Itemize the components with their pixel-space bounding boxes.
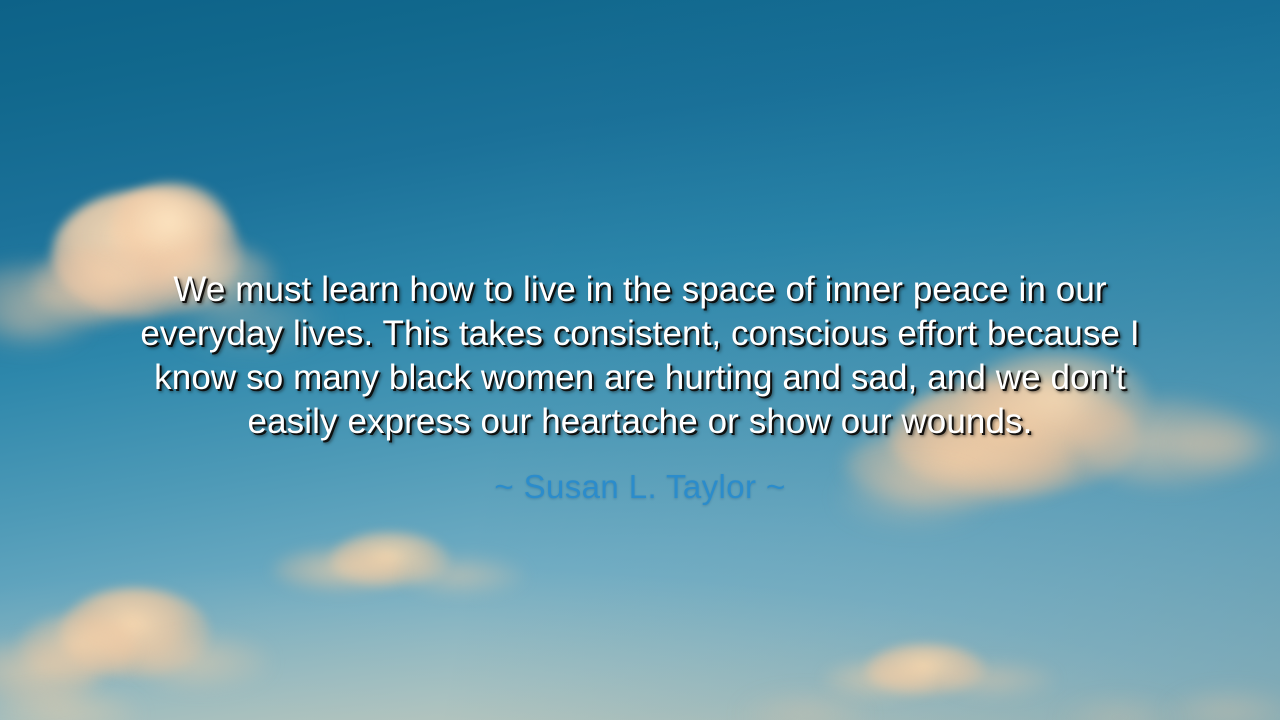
quote-text: We must learn how to live in the space o… [110,268,1170,444]
quote-image-canvas: We must learn how to live in the space o… [0,0,1280,720]
quote-author: ~ Susan L. Taylor ~ [494,466,785,508]
text-overlay: We must learn how to live in the space o… [0,0,1280,720]
